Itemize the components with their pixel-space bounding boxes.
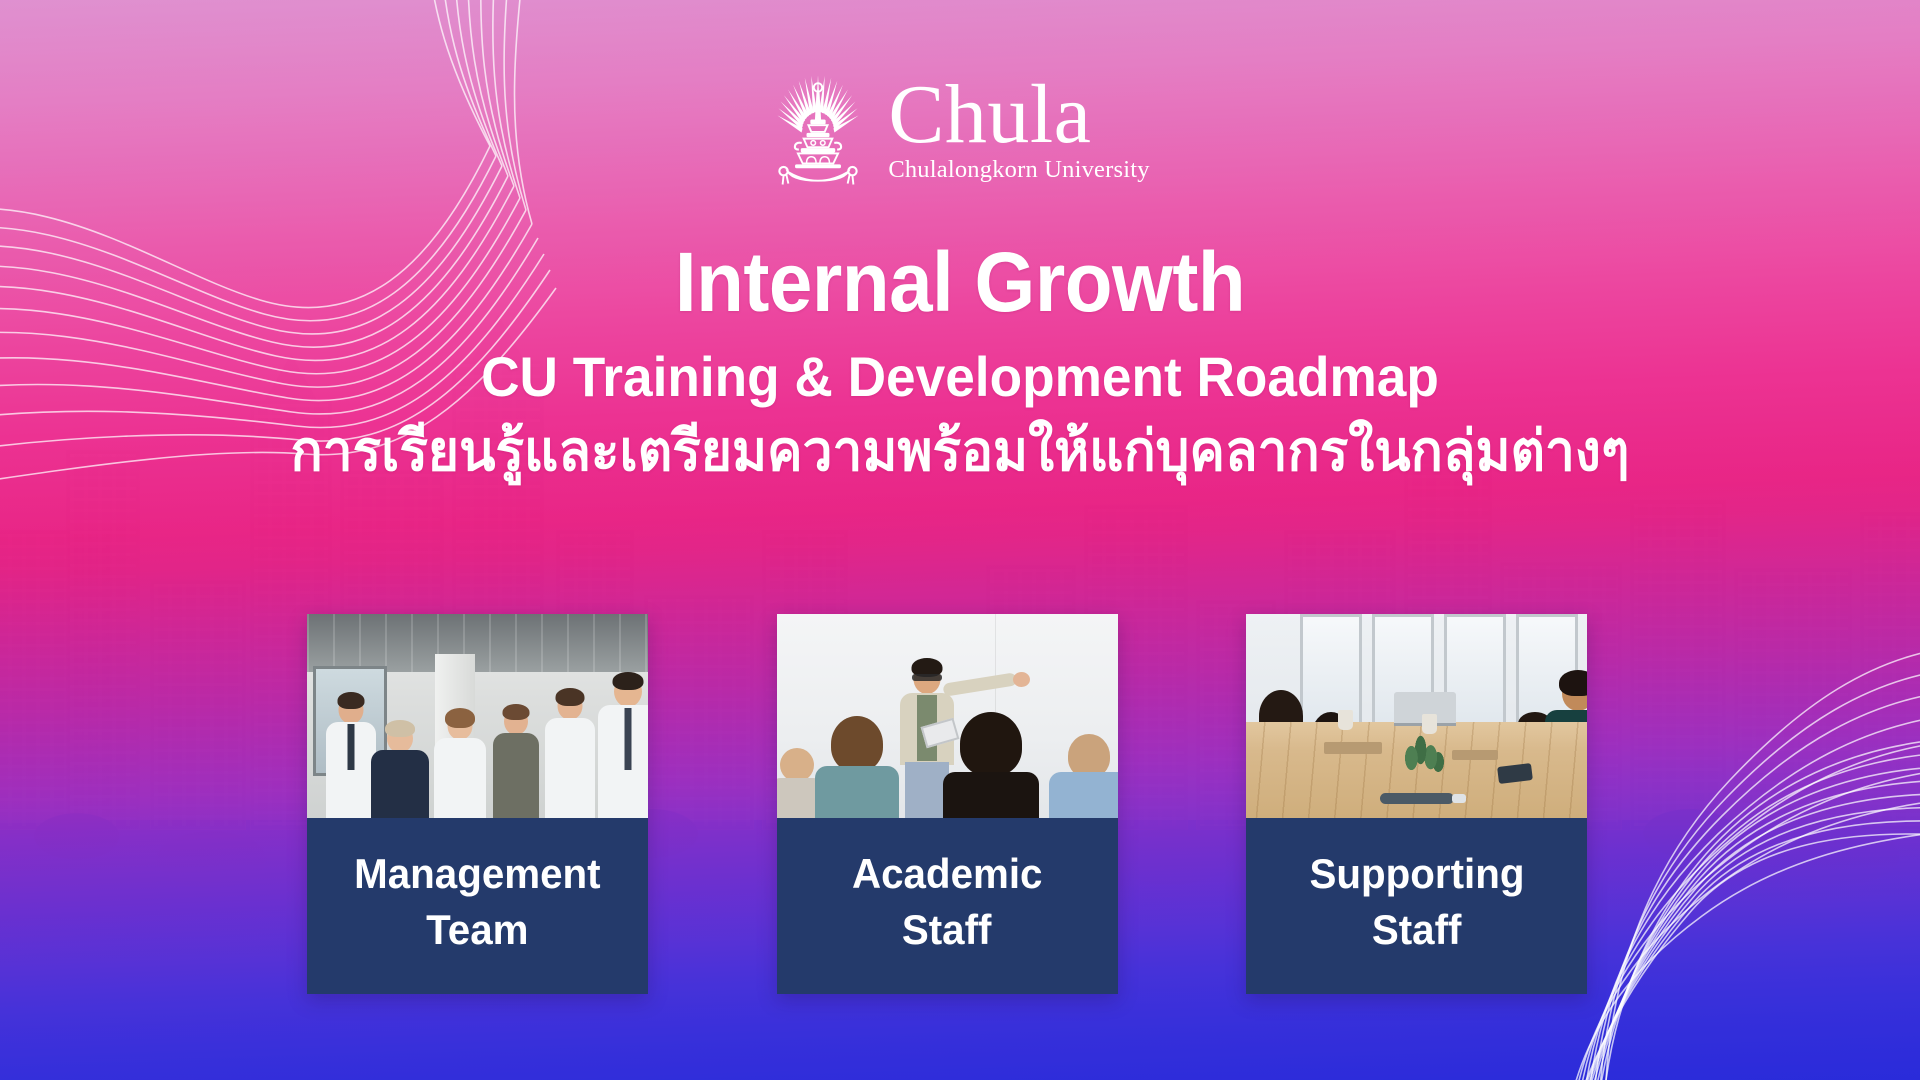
card-caption-supporting-staff: Supporting Staff [1246,818,1587,994]
brand-wordmark: Chula Chulalongkorn University [888,76,1149,184]
card-caption-academic-staff: Academic Staff [777,818,1118,994]
card-label-line2: Staff [902,902,992,958]
brand-wordmark-subtitle: Chulalongkorn University [888,156,1149,184]
brand-wordmark-main: Chula [888,76,1091,153]
card-photo-academic-staff [777,614,1118,818]
card-academic-staff[interactable]: Academic Staff [777,614,1118,994]
audience-cards-row: Management Team [307,614,1587,994]
card-label-line2: Team [426,902,528,958]
card-management-team[interactable]: Management Team [307,614,648,994]
card-caption-management-team: Management Team [307,818,648,994]
page-subtitle-en: CU Training & Development Roadmap [48,345,1872,410]
card-label-line1: Management [354,846,600,902]
slide-canvas: Chula Chulalongkorn University Internal … [0,0,1920,1080]
card-label-line1: Academic [852,846,1043,902]
brand-logo-block: Chula Chulalongkorn University [0,64,1920,196]
card-supporting-staff[interactable]: Supporting Staff [1246,614,1587,994]
title-block: Internal Growth CU Training & Developmen… [0,238,1920,486]
card-photo-management-team [307,614,648,818]
card-label-line1: Supporting [1309,846,1524,902]
chulalongkorn-phra-kiao-crest-icon [770,64,866,196]
card-photo-supporting-staff [1246,614,1587,818]
page-title: Internal Growth [67,238,1853,327]
card-label-line2: Staff [1372,902,1462,958]
page-subtitle-th: การเรียนรู้และเตรียมความพร้อมให้แก่บุคลา… [48,416,1872,486]
